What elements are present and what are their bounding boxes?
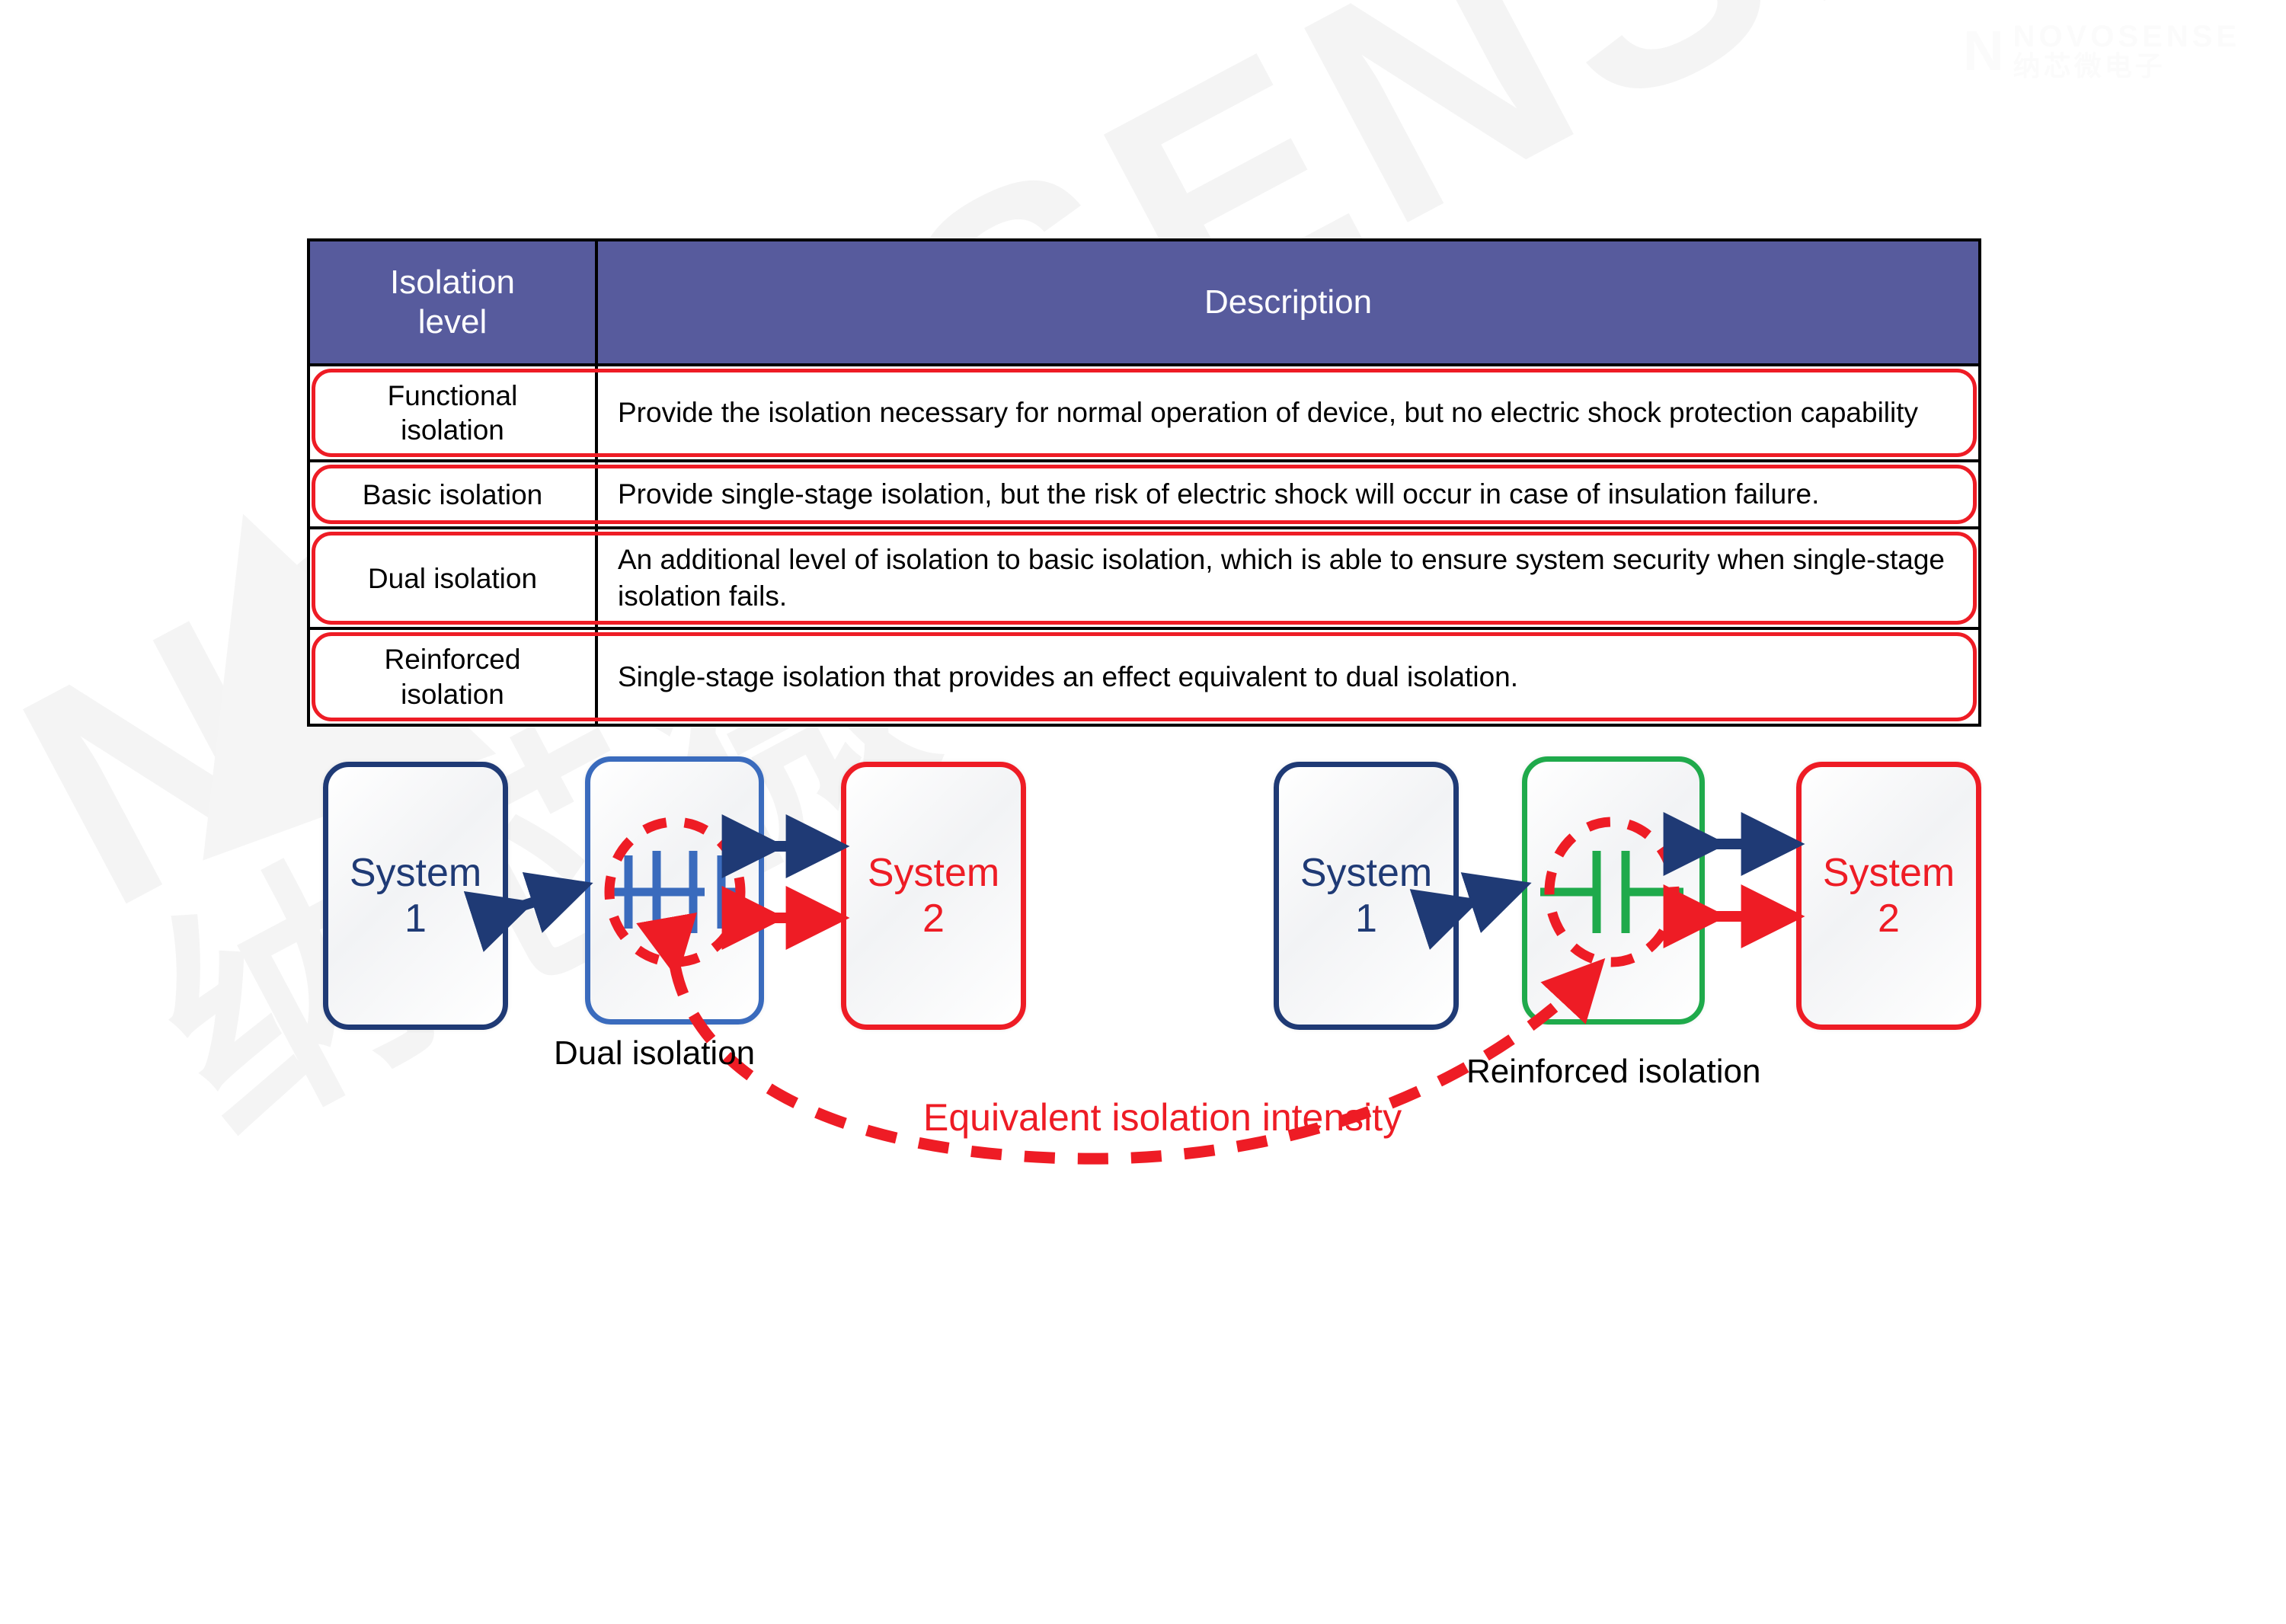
arrow-right-system1-to-barrier [1466,887,1517,904]
logo-text-en: NOVOSENSE [2013,21,2240,53]
caption-reinforced-isolation: Reinforced isolation [1466,1053,1760,1091]
column-header-level-line1: Isolation [390,263,515,302]
left-system-2-box: System 2 [841,762,1026,1030]
cell-description: Provide single-stage isolation, but the … [598,462,1978,526]
column-header-description: Description [598,241,1978,363]
table-row: Functional isolation Provide the isolati… [310,366,1978,462]
cell-level-line2: isolation [385,677,521,711]
right-system-1-box: System 1 [1274,762,1459,1030]
cell-description: An additional level of isolation to basi… [598,529,1978,627]
cell-isolation-level: Dual isolation [310,529,598,627]
cell-isolation-level: Basic isolation [310,462,598,526]
right-system-1-label-line1: System [1300,850,1432,896]
column-header-isolation-level: Isolation level [310,241,598,363]
cell-isolation-level: Functional isolation [310,366,598,459]
left-system-2-label-line1: System [868,850,999,896]
isolation-level-table: Isolation level Description Functional i… [307,238,1981,727]
logo-text-cn: 纳芯微电子 [2013,53,2240,81]
cell-description: Single-stage isolation that provides an … [598,630,1978,723]
cell-description: Provide the isolation necessary for norm… [598,366,1978,459]
column-header-level-line2: level [390,302,515,342]
right-system-2-label-line1: System [1823,850,1955,896]
arrow-left-system1-to-barrier [520,887,579,906]
caption-equivalent-isolation-intensity: Equivalent isolation intensity [923,1095,1402,1140]
logo-wordmark: NOVOSENSE 纳芯微电子 [2013,21,2240,81]
cell-level-line1: Reinforced [385,642,521,676]
cell-isolation-level: Reinforced isolation [310,630,598,723]
table-row: Reinforced isolation Single-stage isolat… [310,630,1978,723]
cell-level-line2: isolation [388,413,518,447]
novosense-logo: N NOVOSENSE 纳芯微电子 [1963,21,2240,81]
right-system-2-label-line2: 2 [1878,896,1900,941]
right-system-1-label-line2: 1 [1355,896,1377,941]
table-row: Dual isolation An additional level of is… [310,529,1978,630]
caption-dual-isolation: Dual isolation [554,1034,755,1073]
left-system-1-label-line1: System [350,850,481,896]
left-system-2-label-line2: 2 [922,896,945,941]
cell-level-line1: Functional [388,379,518,413]
logo-n-icon: N [1963,23,1999,79]
isolation-diagram: System 1 System 2 System 1 System 2 [0,743,2286,1286]
dual-isolation-barrier-box [585,756,764,1025]
left-system-1-box: System 1 [323,762,508,1030]
reinforced-isolation-barrier-box [1522,756,1705,1025]
right-system-2-box: System 2 [1796,762,1981,1030]
table-header-row: Isolation level Description [310,241,1978,366]
left-system-1-label-line2: 1 [404,896,427,941]
table-row: Basic isolation Provide single-stage iso… [310,462,1978,529]
